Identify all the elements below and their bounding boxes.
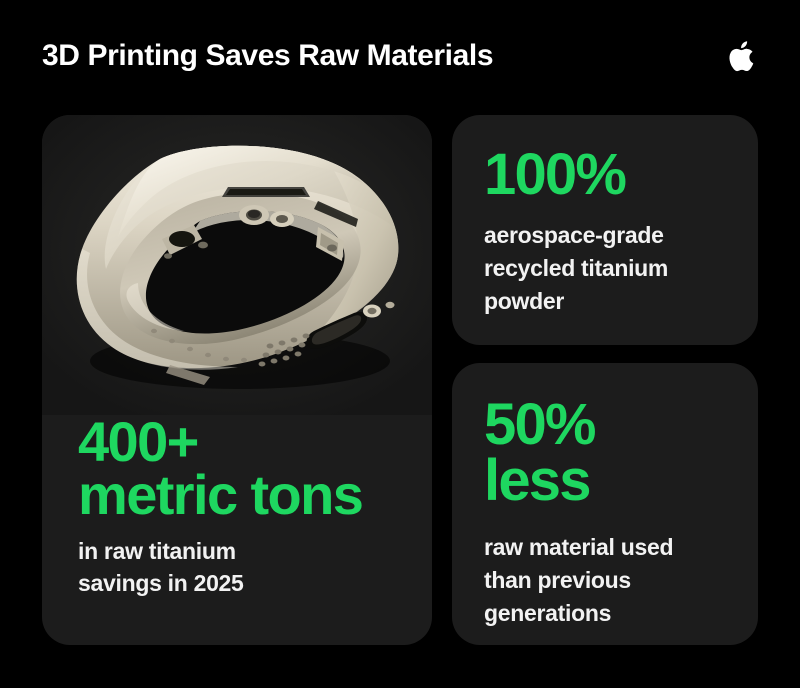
stats-grid: 400+ metric tons in raw titanium savings… [42,115,758,645]
page-title: 3D Printing Saves Raw Materials [42,41,493,71]
stat-card-less-raw-material: 50% less raw material used than previous… [452,363,758,645]
stat-description-raw-material: raw material used than previous generati… [484,531,758,630]
titanium-case-image [42,115,432,415]
stat-description-recycled-powder: aerospace-grade recycled titanium powder [484,219,758,318]
header: 3D Printing Saves Raw Materials [42,30,758,82]
apple-logo-icon [728,41,758,72]
main-stat-value: 400+ metric tons [78,415,432,521]
stat-value-50-percent-less: 50% less [484,397,758,509]
stat-card-recycled-titanium-powder: 100% aerospace-grade recycled titanium p… [452,115,758,345]
main-stat-text: 400+ metric tons in raw titanium savings… [42,415,432,645]
main-stat-description: in raw titanium savings in 2025 [78,535,432,599]
infographic-page: 3D Printing Saves Raw Materials [0,0,800,688]
stat-value-100-percent: 100% [484,147,758,203]
main-stat-card: 400+ metric tons in raw titanium savings… [42,115,432,645]
